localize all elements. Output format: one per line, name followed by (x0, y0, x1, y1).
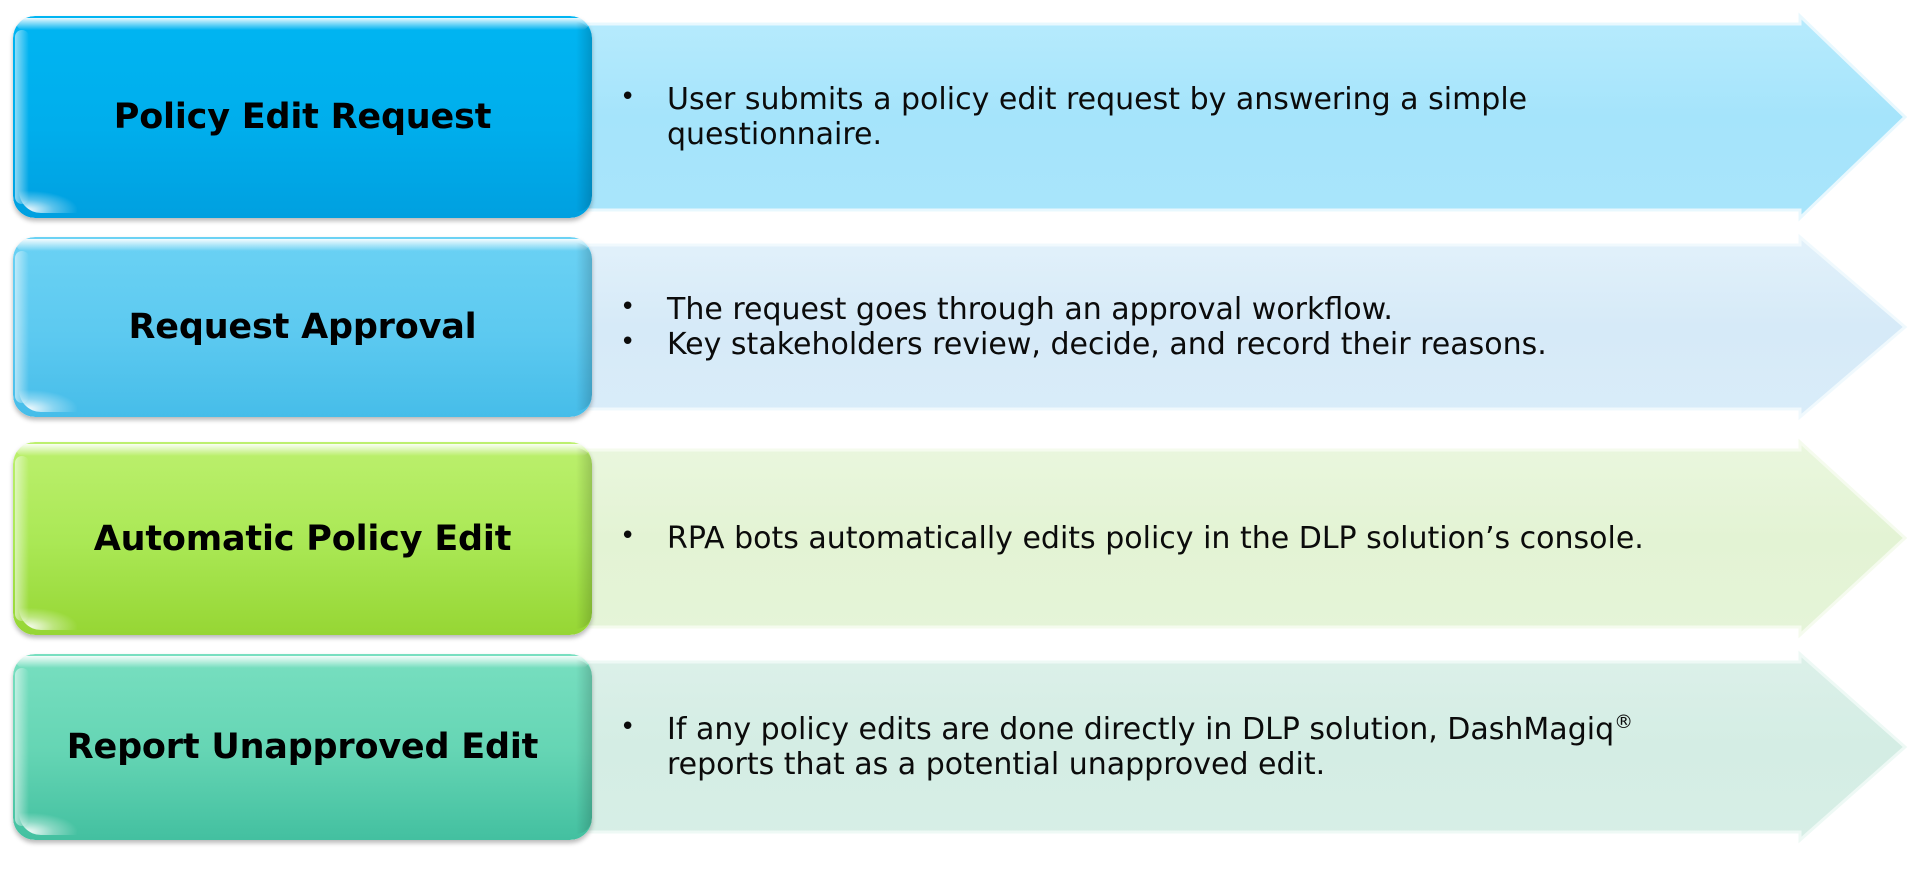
step-bullet-list: • The request goes through an approval w… (620, 237, 1731, 417)
process-step-row: Policy Edit Request • User submits a pol… (0, 16, 1921, 218)
list-item: • Key stakeholders review, decide, and r… (620, 327, 1731, 362)
step-label-text: Automatic Policy Edit (13, 442, 592, 635)
bullet-text: The request goes through an approval wor… (667, 292, 1731, 327)
step-bullet-list: • User submits a policy edit request by … (620, 16, 1731, 218)
bullet-dot-icon: • (620, 521, 667, 553)
bullet-text-continued: reports that as a potential unapproved e… (667, 747, 1325, 782)
list-item: • The request goes through an approval w… (620, 292, 1731, 327)
bullet-text: User submits a policy edit request by an… (667, 82, 1731, 153)
process-step-row: Request Approval • The request goes thro… (0, 237, 1921, 417)
bullet-dot-icon: • (620, 292, 667, 324)
bullet-dot-icon: • (620, 327, 667, 359)
bullet-text: RPA bots automatically edits policy in t… (667, 521, 1731, 556)
step-label-text: Request Approval (13, 237, 592, 417)
step-bullet-list: • RPA bots automatically edits policy in… (620, 442, 1731, 635)
step-label-chip[interactable]: Report Unapproved Edit (13, 654, 592, 840)
step-label-chip[interactable]: Policy Edit Request (13, 16, 592, 218)
registered-trademark-icon: ® (1614, 711, 1633, 733)
bullet-dot-icon: • (620, 82, 667, 114)
step-label-chip[interactable]: Request Approval (13, 237, 592, 417)
bullet-text: Key stakeholders review, decide, and rec… (667, 327, 1731, 362)
process-step-row: Automatic Policy Edit • RPA bots automat… (0, 442, 1921, 635)
process-flow-diagram: Policy Edit Request • User submits a pol… (0, 0, 1921, 879)
process-step-row: Report Unapproved Edit • If any policy e… (0, 654, 1921, 840)
step-bullet-list: • If any policy edits are done directly … (620, 654, 1731, 840)
bullet-dot-icon: • (620, 712, 667, 744)
list-item: • User submits a policy edit request by … (620, 82, 1731, 153)
bullet-text-main: If any policy edits are done directly in… (667, 712, 1614, 747)
bullet-text: If any policy edits are done directly in… (667, 712, 1731, 783)
step-label-chip[interactable]: Automatic Policy Edit (13, 442, 592, 635)
list-item: • If any policy edits are done directly … (620, 712, 1731, 783)
step-label-text: Policy Edit Request (13, 16, 592, 218)
list-item: • RPA bots automatically edits policy in… (620, 521, 1731, 556)
step-label-text: Report Unapproved Edit (13, 654, 592, 840)
